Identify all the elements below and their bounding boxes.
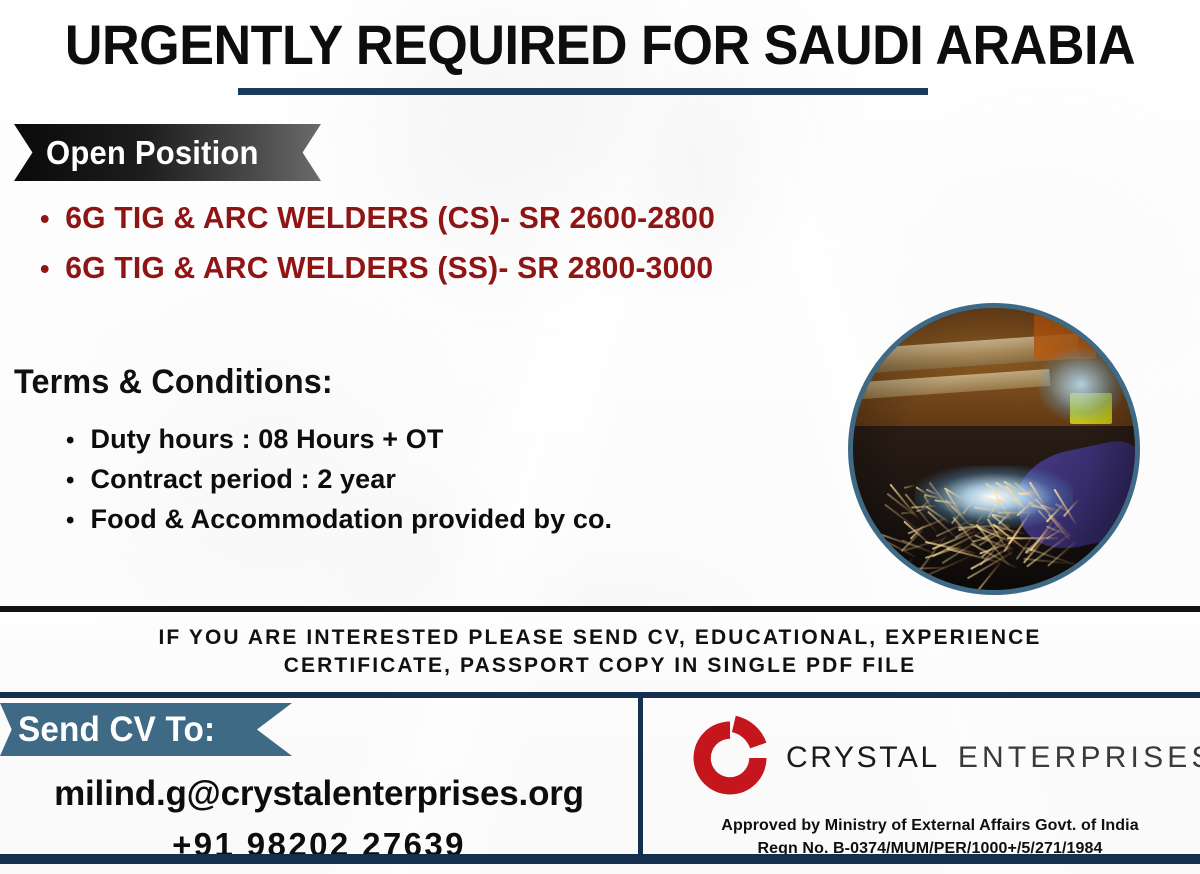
bullet-icon: • [66, 429, 75, 453]
bullet-icon: • [40, 205, 50, 233]
page-title: URGENTLY REQUIRED FOR SAUDI ARABIA [42, 12, 1158, 77]
terms-label: Food & Accommodation provided by co. [91, 504, 613, 535]
footer-vertical-divider [638, 698, 643, 864]
position-label: 6G TIG & ARC WELDERS (SS)- SR 2800-3000 [65, 250, 713, 286]
list-item: • Food & Accommodation provided by co. [66, 504, 612, 535]
list-item: • 6G TIG & ARC WELDERS (CS)- SR 2600-280… [40, 200, 715, 236]
send-cv-ribbon: Send CV To: [0, 703, 292, 756]
list-item: • Contract period : 2 year [66, 464, 612, 495]
send-cv-label: Send CV To: [18, 710, 215, 750]
company-name-primary: CRYSTAL [786, 741, 940, 775]
terms-label: Duty hours : 08 Hours + OT [91, 424, 444, 455]
welding-photo [848, 303, 1140, 595]
footer: Send CV To: milind.g@crystalenterprises.… [0, 698, 1200, 864]
crystal-c-ring-logo-icon [682, 710, 778, 806]
instruction-line-1: IF YOU ARE INTERESTED PLEASE SEND CV, ED… [158, 624, 1041, 652]
instruction-banner: IF YOU ARE INTERESTED PLEASE SEND CV, ED… [0, 612, 1200, 692]
list-item: • 6G TIG & ARC WELDERS (SS)- SR 2800-300… [40, 250, 715, 286]
open-position-ribbon: Open Position [14, 124, 321, 181]
recruitment-poster: URGENTLY REQUIRED FOR SAUDI ARABIA Open … [0, 0, 1200, 874]
open-positions-list: • 6G TIG & ARC WELDERS (CS)- SR 2600-280… [40, 200, 736, 300]
footer-bottom-bar [0, 854, 1200, 864]
terms-heading: Terms & Conditions: [14, 363, 333, 402]
instruction-line-2: CERTIFICATE, PASSPORT COPY IN SINGLE PDF… [284, 652, 916, 680]
terms-list: • Duty hours : 08 Hours + OT • Contract … [66, 424, 612, 544]
company-name-secondary: ENTERPRISES [958, 741, 1200, 775]
title-underline [238, 88, 928, 95]
bullet-icon: • [40, 255, 50, 283]
contact-email[interactable]: milind.g@crystalenterprises.org [0, 774, 638, 814]
bullet-icon: • [66, 469, 75, 493]
position-label: 6G TIG & ARC WELDERS (CS)- SR 2600-2800 [65, 200, 715, 236]
terms-label: Contract period : 2 year [91, 464, 396, 495]
bullet-icon: • [66, 509, 75, 533]
company-logo-block: CRYSTAL ENTERPRISES Approved by Ministry… [660, 698, 1200, 864]
open-position-label: Open Position [46, 134, 259, 172]
list-item: • Duty hours : 08 Hours + OT [66, 424, 612, 455]
approval-line-1: Approved by Ministry of External Affairs… [660, 814, 1200, 837]
